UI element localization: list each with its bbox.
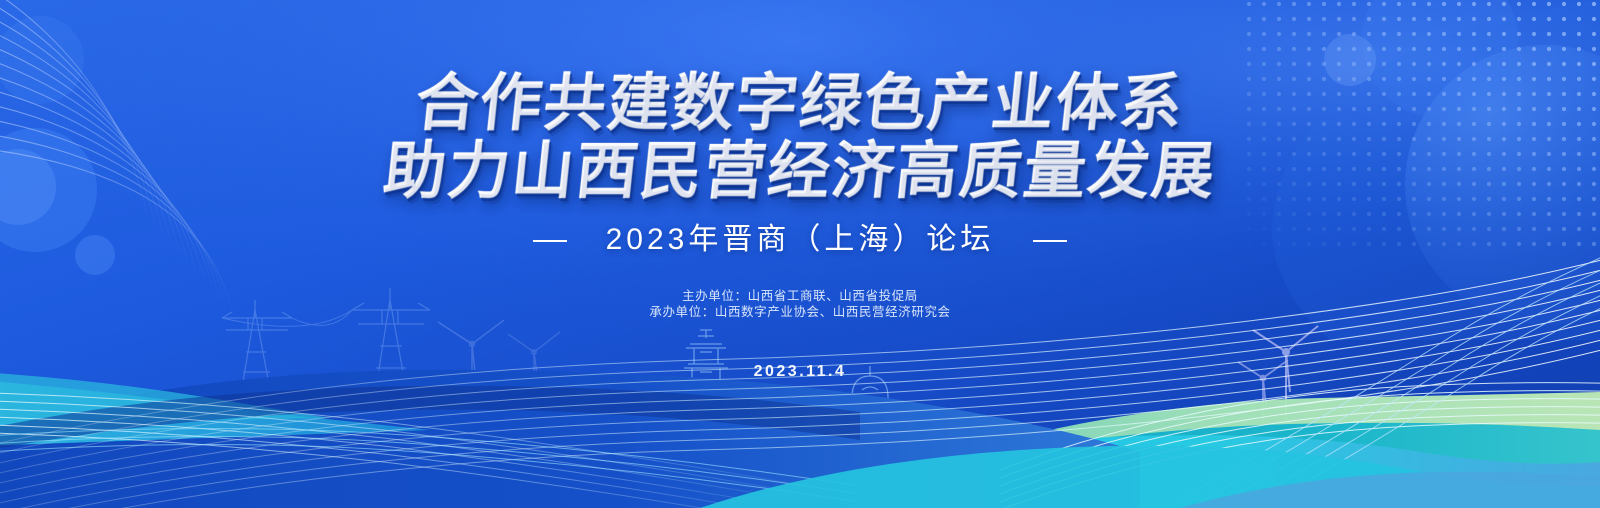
wave-layer xyxy=(0,0,1600,508)
conference-banner: 合作共建数字绿色产业体系 助力山西民营经济高质量发展 2023年晋商（上海）论坛… xyxy=(0,0,1600,508)
